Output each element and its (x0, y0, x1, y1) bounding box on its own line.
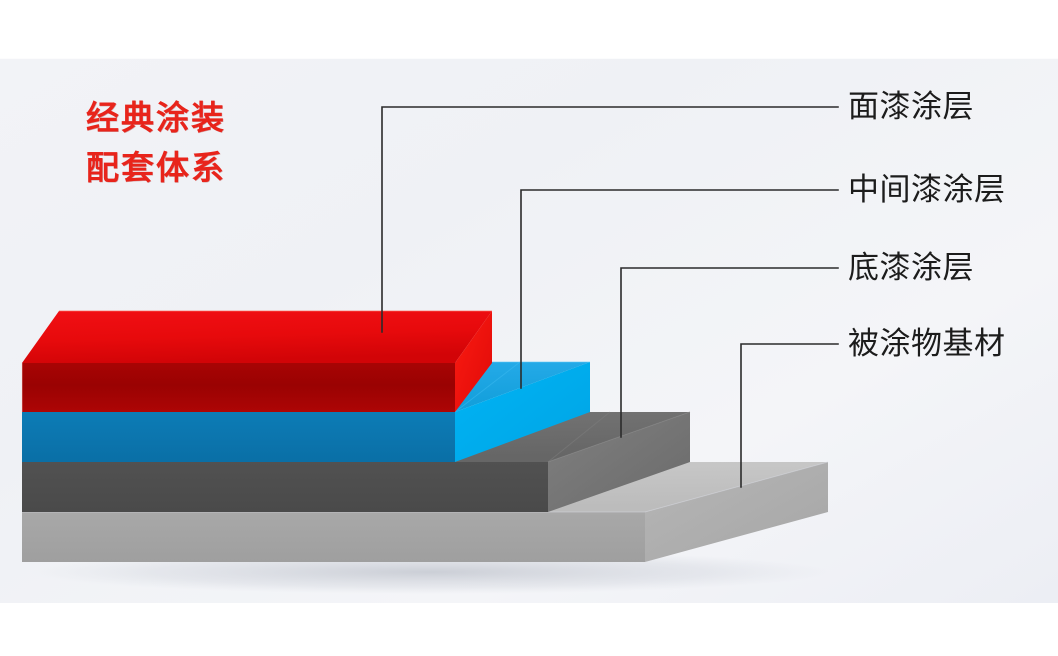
intermediate-front-face (22, 412, 455, 462)
figure-canvas: 经典涂装 配套体系 面漆涂层 中间漆涂层 底漆涂层 被涂物基材 (0, 0, 1058, 656)
topcoat-top-face (22, 311, 492, 363)
substrate-front-face (22, 512, 645, 562)
leader-line-intermediate (521, 190, 838, 388)
figure-title: 经典涂装 配套体系 (86, 93, 226, 193)
label-intermediate: 中间漆涂层 (848, 174, 1006, 205)
topcoat-front-face (22, 363, 455, 412)
label-substrate: 被涂物基材 (848, 328, 1006, 359)
figure-title-line-2: 配套体系 (86, 143, 226, 193)
primer-front-face (22, 462, 548, 512)
figure-title-line-1: 经典涂装 (86, 93, 226, 143)
layer-topcoat (22, 311, 492, 412)
leader-line-topcoat (382, 107, 838, 332)
label-topcoat: 面漆涂层 (848, 91, 974, 122)
leader-line-primer (621, 268, 838, 437)
label-primer: 底漆涂层 (848, 252, 974, 283)
